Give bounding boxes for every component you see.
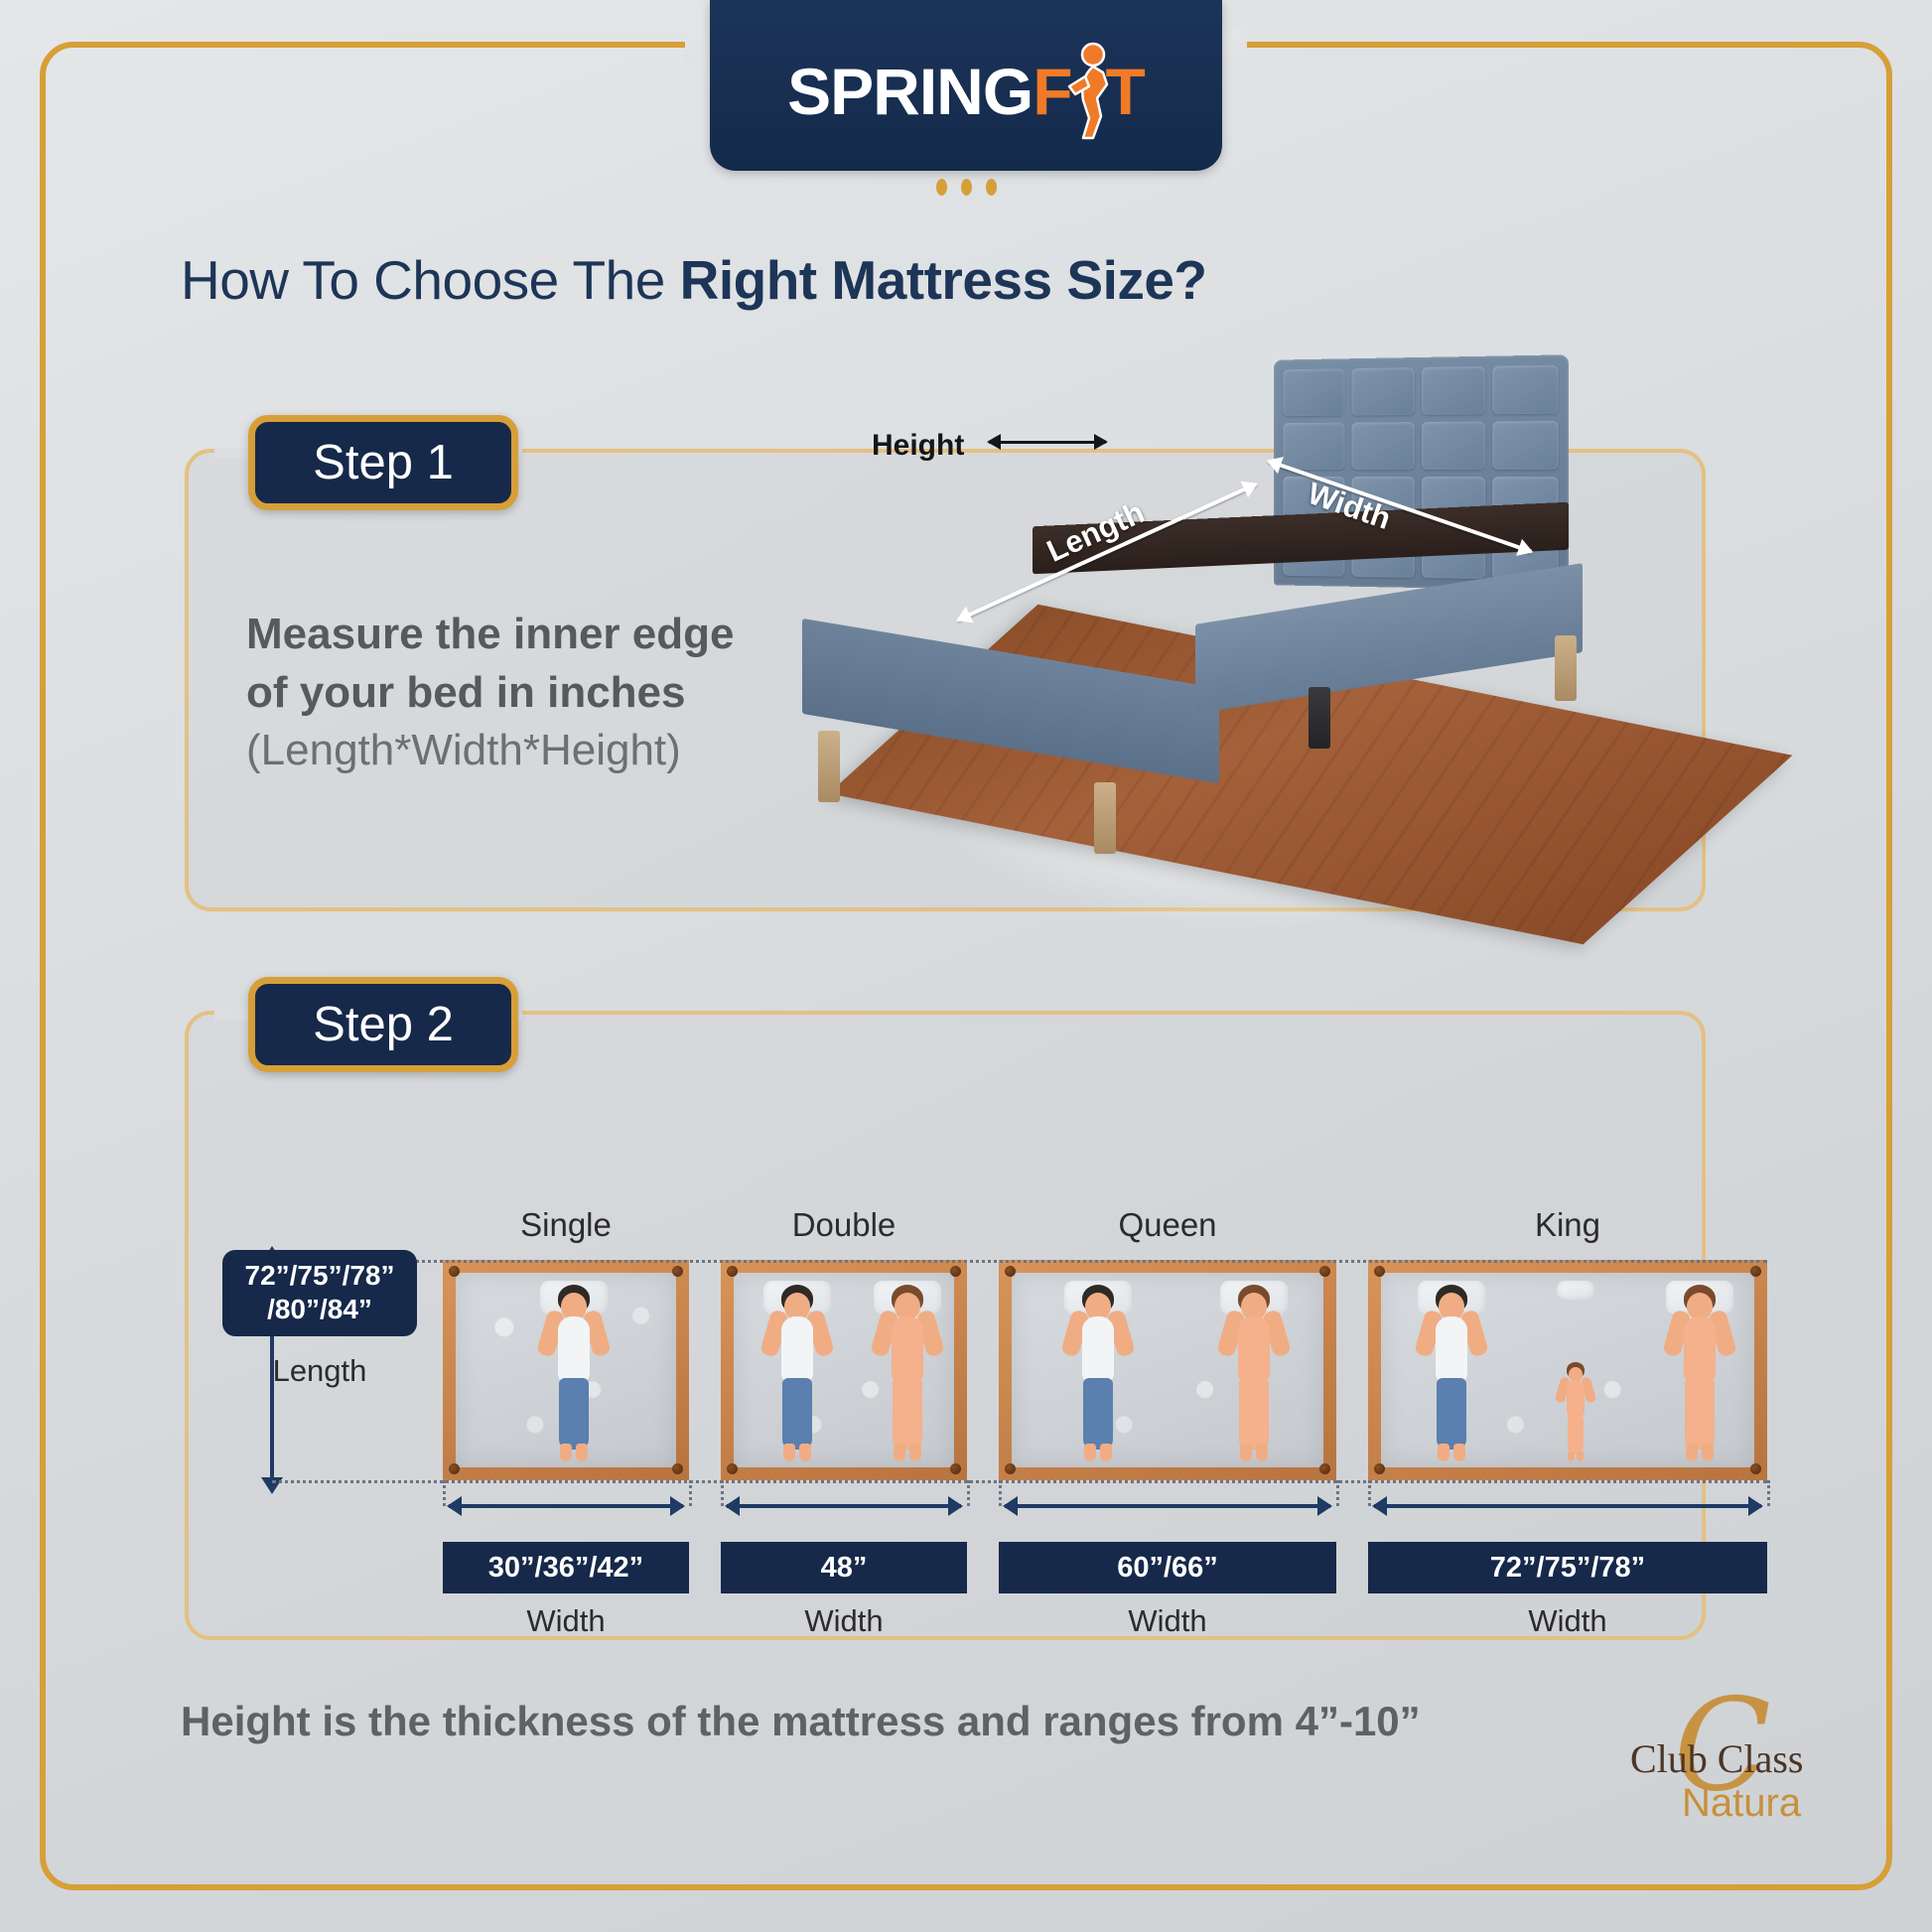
size-name-double: Double bbox=[721, 1206, 967, 1244]
mattress-corner-rivet bbox=[1005, 1463, 1016, 1474]
size-name-queen: Queen bbox=[999, 1206, 1336, 1244]
sleeper-figure-female bbox=[878, 1285, 937, 1461]
width-badge-king: 72”/75”/78” bbox=[1368, 1542, 1767, 1593]
width-guide-dotted-line bbox=[1767, 1480, 1770, 1506]
mattress-corner-rivet bbox=[1750, 1266, 1761, 1277]
width-guide-dotted-line bbox=[967, 1480, 970, 1506]
length-badge-line-1: 72”/75”/78” bbox=[226, 1259, 413, 1293]
mattress-corner-rivet bbox=[950, 1463, 961, 1474]
length-badge-line-2: /80”/84” bbox=[226, 1293, 413, 1326]
mattress-corner-rivet bbox=[672, 1463, 683, 1474]
mattress-corner-rivet bbox=[449, 1463, 460, 1474]
page-title-light: How To Choose The bbox=[181, 249, 680, 311]
sleeper-figure-male bbox=[767, 1285, 827, 1461]
mattress-corner-rivet bbox=[1750, 1463, 1761, 1474]
height-arrow-icon bbox=[989, 441, 1106, 444]
bed-leg bbox=[818, 731, 840, 802]
mattress-corner-rivet bbox=[727, 1463, 738, 1474]
width-badge-single: 30”/36”/42” bbox=[443, 1542, 689, 1593]
club-class-tagline: Natura bbox=[1682, 1781, 1801, 1826]
width-arrow-icon bbox=[449, 1504, 683, 1508]
club-class-name: Club Class bbox=[1630, 1735, 1803, 1782]
step-1-badge: Step 1 bbox=[248, 415, 518, 510]
width-arrow-icon bbox=[1005, 1504, 1330, 1508]
width-guide-dotted-line bbox=[689, 1480, 692, 1506]
plate-dot-ornament bbox=[0, 179, 1932, 196]
ornament-dot bbox=[936, 179, 947, 196]
mattress-queen bbox=[999, 1260, 1336, 1480]
brand-logo-plate: SPRING F T bbox=[710, 0, 1222, 171]
runner-icon bbox=[1069, 55, 1109, 128]
mattress-corner-rivet bbox=[672, 1266, 683, 1277]
width-badge-double: 48” bbox=[721, 1542, 967, 1593]
width-caption: Width bbox=[999, 1603, 1336, 1639]
width-guide-dotted-line bbox=[721, 1480, 724, 1506]
bed-leg bbox=[1094, 782, 1116, 854]
sleeper-figure-female bbox=[1670, 1285, 1729, 1461]
step-2-badge: Step 2 bbox=[248, 977, 518, 1072]
club-class-natura-logo: C Club Class Natura bbox=[1626, 1678, 1855, 1827]
sleeper-figure-male bbox=[544, 1285, 604, 1461]
step-1-line-2: of your bed in inches bbox=[246, 664, 802, 723]
width-guide-dotted-line bbox=[1336, 1480, 1339, 1506]
size-name-king: King bbox=[1368, 1206, 1767, 1244]
width-caption: Width bbox=[443, 1603, 689, 1639]
logo-text-spring: SPRING bbox=[787, 54, 1033, 129]
width-guide-dotted-line bbox=[443, 1480, 446, 1506]
mattress-corner-rivet bbox=[449, 1266, 460, 1277]
width-caption: Width bbox=[1368, 1603, 1767, 1639]
size-name-single: Single bbox=[443, 1206, 689, 1244]
mattress-corner-rivet bbox=[1374, 1463, 1385, 1474]
mattress-size-chart: 72”/75”/78” /80”/84” Length Single30”/36… bbox=[248, 1206, 1658, 1623]
ornament-dot bbox=[961, 179, 972, 196]
width-guide-dotted-line bbox=[1368, 1480, 1371, 1506]
length-guide-dotted-line bbox=[272, 1260, 1767, 1263]
ornament-dot bbox=[986, 179, 997, 196]
sleeper-figure-female bbox=[1224, 1285, 1284, 1461]
page-title-bold: Right Mattress Size? bbox=[680, 249, 1207, 311]
width-arrow-icon bbox=[1374, 1504, 1761, 1508]
length-badge: 72”/75”/78” /80”/84” bbox=[222, 1250, 417, 1336]
bed-height-label: Height bbox=[872, 429, 964, 463]
mattress-double bbox=[721, 1260, 967, 1480]
bed-leg bbox=[1309, 687, 1330, 749]
mattress-corner-rivet bbox=[1319, 1463, 1330, 1474]
bed-illustration: Length Width Height bbox=[794, 338, 1678, 933]
step-1-instruction: Measure the inner edge of your bed in in… bbox=[246, 606, 802, 780]
sleeper-figure-male bbox=[1422, 1285, 1481, 1461]
sleeper-figure-male bbox=[1068, 1285, 1128, 1461]
width-guide-dotted-line bbox=[999, 1480, 1002, 1506]
sleeper-figure-child bbox=[1559, 1362, 1592, 1461]
mattress-corner-rivet bbox=[1374, 1266, 1385, 1277]
step-1-line-3: (Length*Width*Height) bbox=[246, 722, 802, 780]
length-guide-dotted-line bbox=[272, 1480, 1767, 1483]
mattress-single bbox=[443, 1260, 689, 1480]
mattress-king bbox=[1368, 1260, 1767, 1480]
footer-height-note: Height is the thickness of the mattress … bbox=[181, 1698, 1421, 1745]
page-title: How To Choose The Right Mattress Size? bbox=[181, 248, 1207, 312]
width-badge-queen: 60”/66” bbox=[999, 1542, 1336, 1593]
bed-leg bbox=[1555, 635, 1577, 701]
width-caption: Width bbox=[721, 1603, 967, 1639]
mattress-corner-rivet bbox=[727, 1266, 738, 1277]
springfit-logo: SPRING F T bbox=[787, 54, 1145, 129]
mattress-corner-rivet bbox=[1005, 1266, 1016, 1277]
mattress-corner-rivet bbox=[1319, 1266, 1330, 1277]
length-caption: Length bbox=[222, 1353, 417, 1389]
width-arrow-icon bbox=[727, 1504, 961, 1508]
pillow bbox=[1557, 1281, 1594, 1300]
mattress-corner-rivet bbox=[950, 1266, 961, 1277]
step-1-line-1: Measure the inner edge bbox=[246, 606, 802, 664]
